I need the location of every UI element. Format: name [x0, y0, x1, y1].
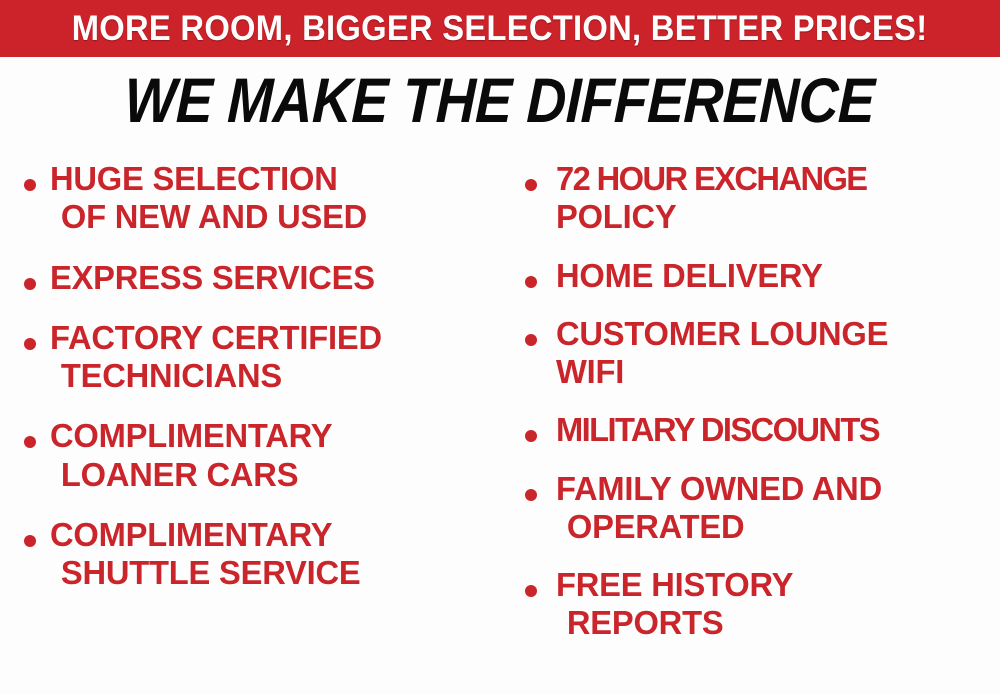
benefits-column-right: 72 HOUR EXCHANGE POLICY HOME DELIVERY CU… [522, 160, 1000, 663]
list-item-line: OF NEW AND USED [50, 198, 501, 236]
list-item-line: FREE HISTORY [556, 566, 996, 604]
bullet-dot-icon [24, 179, 36, 191]
list-item-line: 72 HOUR EXCHANGE [556, 160, 996, 198]
list-item: HOME DELIVERY [522, 257, 1000, 295]
list-item-line: COMPLIMENTARY [50, 516, 501, 554]
list-item-line: COMPLIMENTARY [50, 417, 501, 455]
bullet-dot-icon [525, 276, 537, 288]
list-item-line: HUGE SELECTION [50, 160, 501, 198]
list-item-line: EXPRESS SERVICES [50, 259, 501, 297]
promo-banner-text: MORE ROOM, BIGGER SELECTION, BETTER PRIC… [72, 11, 928, 46]
bullet-dot-icon [525, 430, 537, 442]
bullet-dot-icon [525, 489, 537, 501]
bullet-dot-icon [24, 278, 36, 290]
promo-banner: MORE ROOM, BIGGER SELECTION, BETTER PRIC… [0, 0, 1000, 57]
list-item: CUSTOMER LOUNGE WIFI [522, 315, 1000, 392]
bullet-dot-icon [525, 585, 537, 597]
list-item-line: POLICY [556, 198, 996, 236]
list-item: HUGE SELECTION OF NEW AND USED [16, 160, 506, 237]
list-item-line: WIFI [556, 353, 996, 391]
list-item-label: FACTORY CERTIFIED TECHNICIANS [50, 319, 501, 396]
list-item: 72 HOUR EXCHANGE POLICY [522, 160, 1000, 237]
list-item-label: 72 HOUR EXCHANGE POLICY [556, 160, 996, 237]
bullet-dot-icon [525, 179, 537, 191]
bullet-dot-icon [525, 334, 537, 346]
list-item: COMPLIMENTARY LOANER CARS [16, 417, 506, 494]
list-item-line: HOME DELIVERY [556, 257, 996, 295]
benefits-column-left: HUGE SELECTION OF NEW AND USED EXPRESS S… [16, 160, 506, 614]
list-item-line: CUSTOMER LOUNGE [556, 315, 996, 353]
list-item: FACTORY CERTIFIED TECHNICIANS [16, 319, 506, 396]
list-item: MILITARY DISCOUNTS [522, 411, 1000, 449]
benefits-columns: HUGE SELECTION OF NEW AND USED EXPRESS S… [0, 160, 1000, 694]
list-item: FREE HISTORY REPORTS [522, 566, 1000, 643]
bullet-dot-icon [24, 535, 36, 547]
list-item-label: CUSTOMER LOUNGE WIFI [556, 315, 996, 392]
list-item-label: MILITARY DISCOUNTS [556, 411, 996, 449]
list-item: EXPRESS SERVICES [16, 259, 506, 297]
list-item-line: FACTORY CERTIFIED [50, 319, 501, 357]
list-item-line: LOANER CARS [50, 456, 501, 494]
list-item-label: COMPLIMENTARY LOANER CARS [50, 417, 501, 494]
list-item-line: FAMILY OWNED AND [556, 470, 996, 508]
headline-text: WE MAKE THE DIFFERENCE [124, 70, 876, 133]
list-item-line: MILITARY DISCOUNTS [556, 411, 996, 449]
list-item: FAMILY OWNED AND OPERATED [522, 470, 1000, 547]
bullet-dot-icon [24, 436, 36, 448]
list-item-line: SHUTTLE SERVICE [50, 554, 501, 592]
list-item-label: HOME DELIVERY [556, 257, 996, 295]
bullet-dot-icon [24, 338, 36, 350]
list-item: COMPLIMENTARY SHUTTLE SERVICE [16, 516, 506, 593]
list-item-label: COMPLIMENTARY SHUTTLE SERVICE [50, 516, 501, 593]
list-item-label: HUGE SELECTION OF NEW AND USED [50, 160, 501, 237]
list-item-line: OPERATED [556, 508, 996, 546]
list-item-line: REPORTS [556, 604, 996, 642]
list-item-label: FREE HISTORY REPORTS [556, 566, 996, 643]
list-item-label: FAMILY OWNED AND OPERATED [556, 470, 996, 547]
list-item-label: EXPRESS SERVICES [50, 259, 501, 297]
headline: WE MAKE THE DIFFERENCE [0, 70, 1000, 133]
list-item-line: TECHNICIANS [50, 357, 501, 395]
